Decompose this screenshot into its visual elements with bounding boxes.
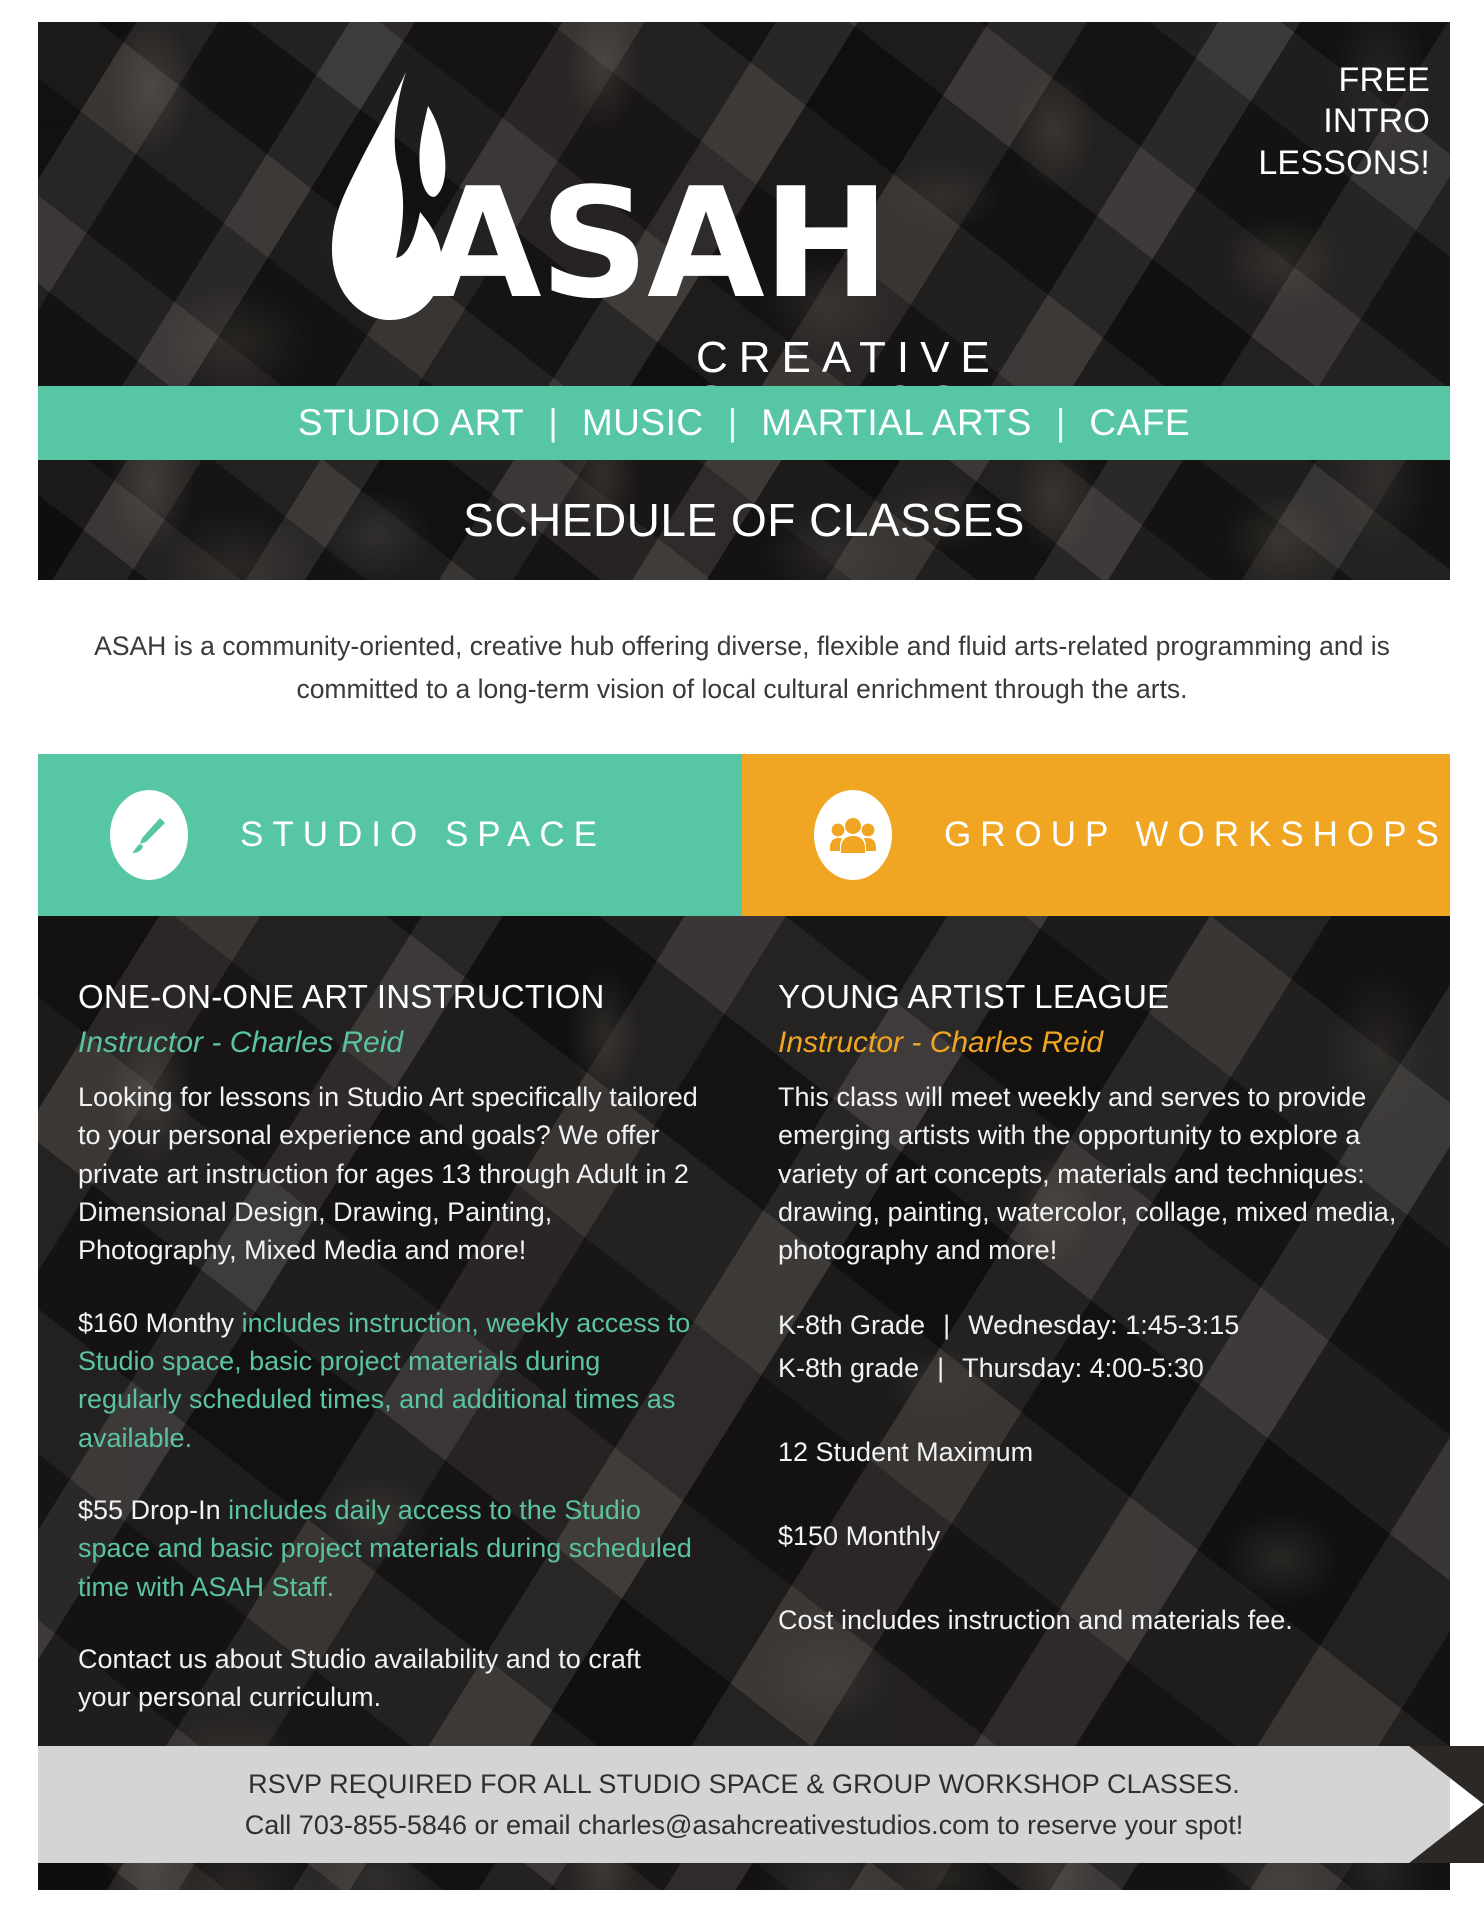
course-description-left: Looking for lessons in Studio Art specif… [78,1078,698,1270]
rsvp-banner: RSVP REQUIRED FOR ALL STUDIO SPACE & GRO… [38,1746,1450,1863]
session-row-wednesday: K-8th Grade|Wednesday: 1:45-3:15 [778,1304,1406,1348]
nav-item-music[interactable]: MUSIC [580,402,706,444]
session-grade: K-8th Grade [778,1310,925,1340]
page-title: SCHEDULE OF CLASSES [463,493,1025,547]
courses-panel: ONE-ON-ONE ART INSTRUCTION Instructor - … [38,916,1450,1890]
course-title-one-on-one: ONE-ON-ONE ART INSTRUCTION [78,978,698,1016]
session-time: Thursday: 4:00-5:30 [962,1353,1204,1383]
pricing-dropin-label: $55 Drop-In [78,1495,221,1525]
price-monthly-right: $150 Monthly [778,1515,1406,1559]
session-separator: | [919,1353,962,1383]
nav-separator: | [1034,402,1088,444]
logo-wordmark: ASAH [424,168,888,320]
category-navbar: STUDIO ART | MUSIC | MARTIAL ARTS | CAFE [38,386,1450,460]
course-title-young-artist-league: YOUNG ARTIST LEAGUE [778,978,1406,1016]
course-description-right: This class will meet weekly and serves t… [778,1078,1406,1270]
bottom-stone-strip [38,1863,1450,1890]
logo-subtitle: CREATIVE STUDIOS [696,336,1174,386]
instructor-name-left: Instructor - Charles Reid [78,1026,698,1060]
people-group-icon [814,790,892,880]
cost-note-right: Cost includes instruction and materials … [778,1599,1406,1643]
nav-item-studio-art[interactable]: STUDIO ART [296,402,526,444]
rsvp-line-2: Call 703-855-5846 or email charles@asahc… [245,1805,1243,1846]
pricing-monthly-label: $160 Monthy [78,1308,234,1338]
intro-paragraph: ASAH is a community-oriented, creative h… [70,625,1414,711]
section-header-studio-space: STUDIO SPACE [38,754,742,916]
ribbon-notch-icon [1388,1746,1484,1863]
hero-banner: FREE INTRO LESSONS! ASAH CREATIVE STUDIO… [38,22,1450,386]
section-label-studio-space: STUDIO SPACE [240,815,606,855]
asah-logo: ASAH CREATIVE STUDIOS [38,56,1450,366]
capacity-note: 12 Student Maximum [778,1431,1406,1475]
nav-separator: | [706,402,760,444]
pricing-dropin-left: $55 Drop-In includes daily access to the… [78,1491,698,1606]
nav-item-cafe[interactable]: CAFE [1087,402,1192,444]
nav-item-martial-arts[interactable]: MARTIAL ARTS [759,402,1034,444]
flyer-page: FREE INTRO LESSONS! ASAH CREATIVE STUDIO… [0,0,1484,1920]
session-row-thursday: K-8th grade|Thursday: 4:00-5:30 [778,1347,1406,1391]
session-time: Wednesday: 1:45-3:15 [968,1310,1239,1340]
schedule-band: SCHEDULE OF CLASSES [38,460,1450,580]
course-closing-left: Contact us about Studio availability and… [78,1640,698,1717]
section-header-group-workshops: GROUP WORKSHOPS [742,754,1450,916]
session-grade: K-8th grade [778,1353,919,1383]
course-column-studio-space: ONE-ON-ONE ART INSTRUCTION Instructor - … [38,916,742,1890]
pricing-monthly-left: $160 Monthy includes instruction, weekly… [78,1304,698,1457]
course-column-group-workshops: YOUNG ARTIST LEAGUE Instructor - Charles… [742,916,1450,1890]
instructor-name-right: Instructor - Charles Reid [778,1026,1406,1060]
session-separator: | [925,1310,968,1340]
section-label-group-workshops: GROUP WORKSHOPS [944,815,1448,855]
nav-separator: | [526,402,580,444]
paintbrush-icon [110,790,188,880]
rsvp-line-1: RSVP REQUIRED FOR ALL STUDIO SPACE & GRO… [248,1764,1240,1805]
